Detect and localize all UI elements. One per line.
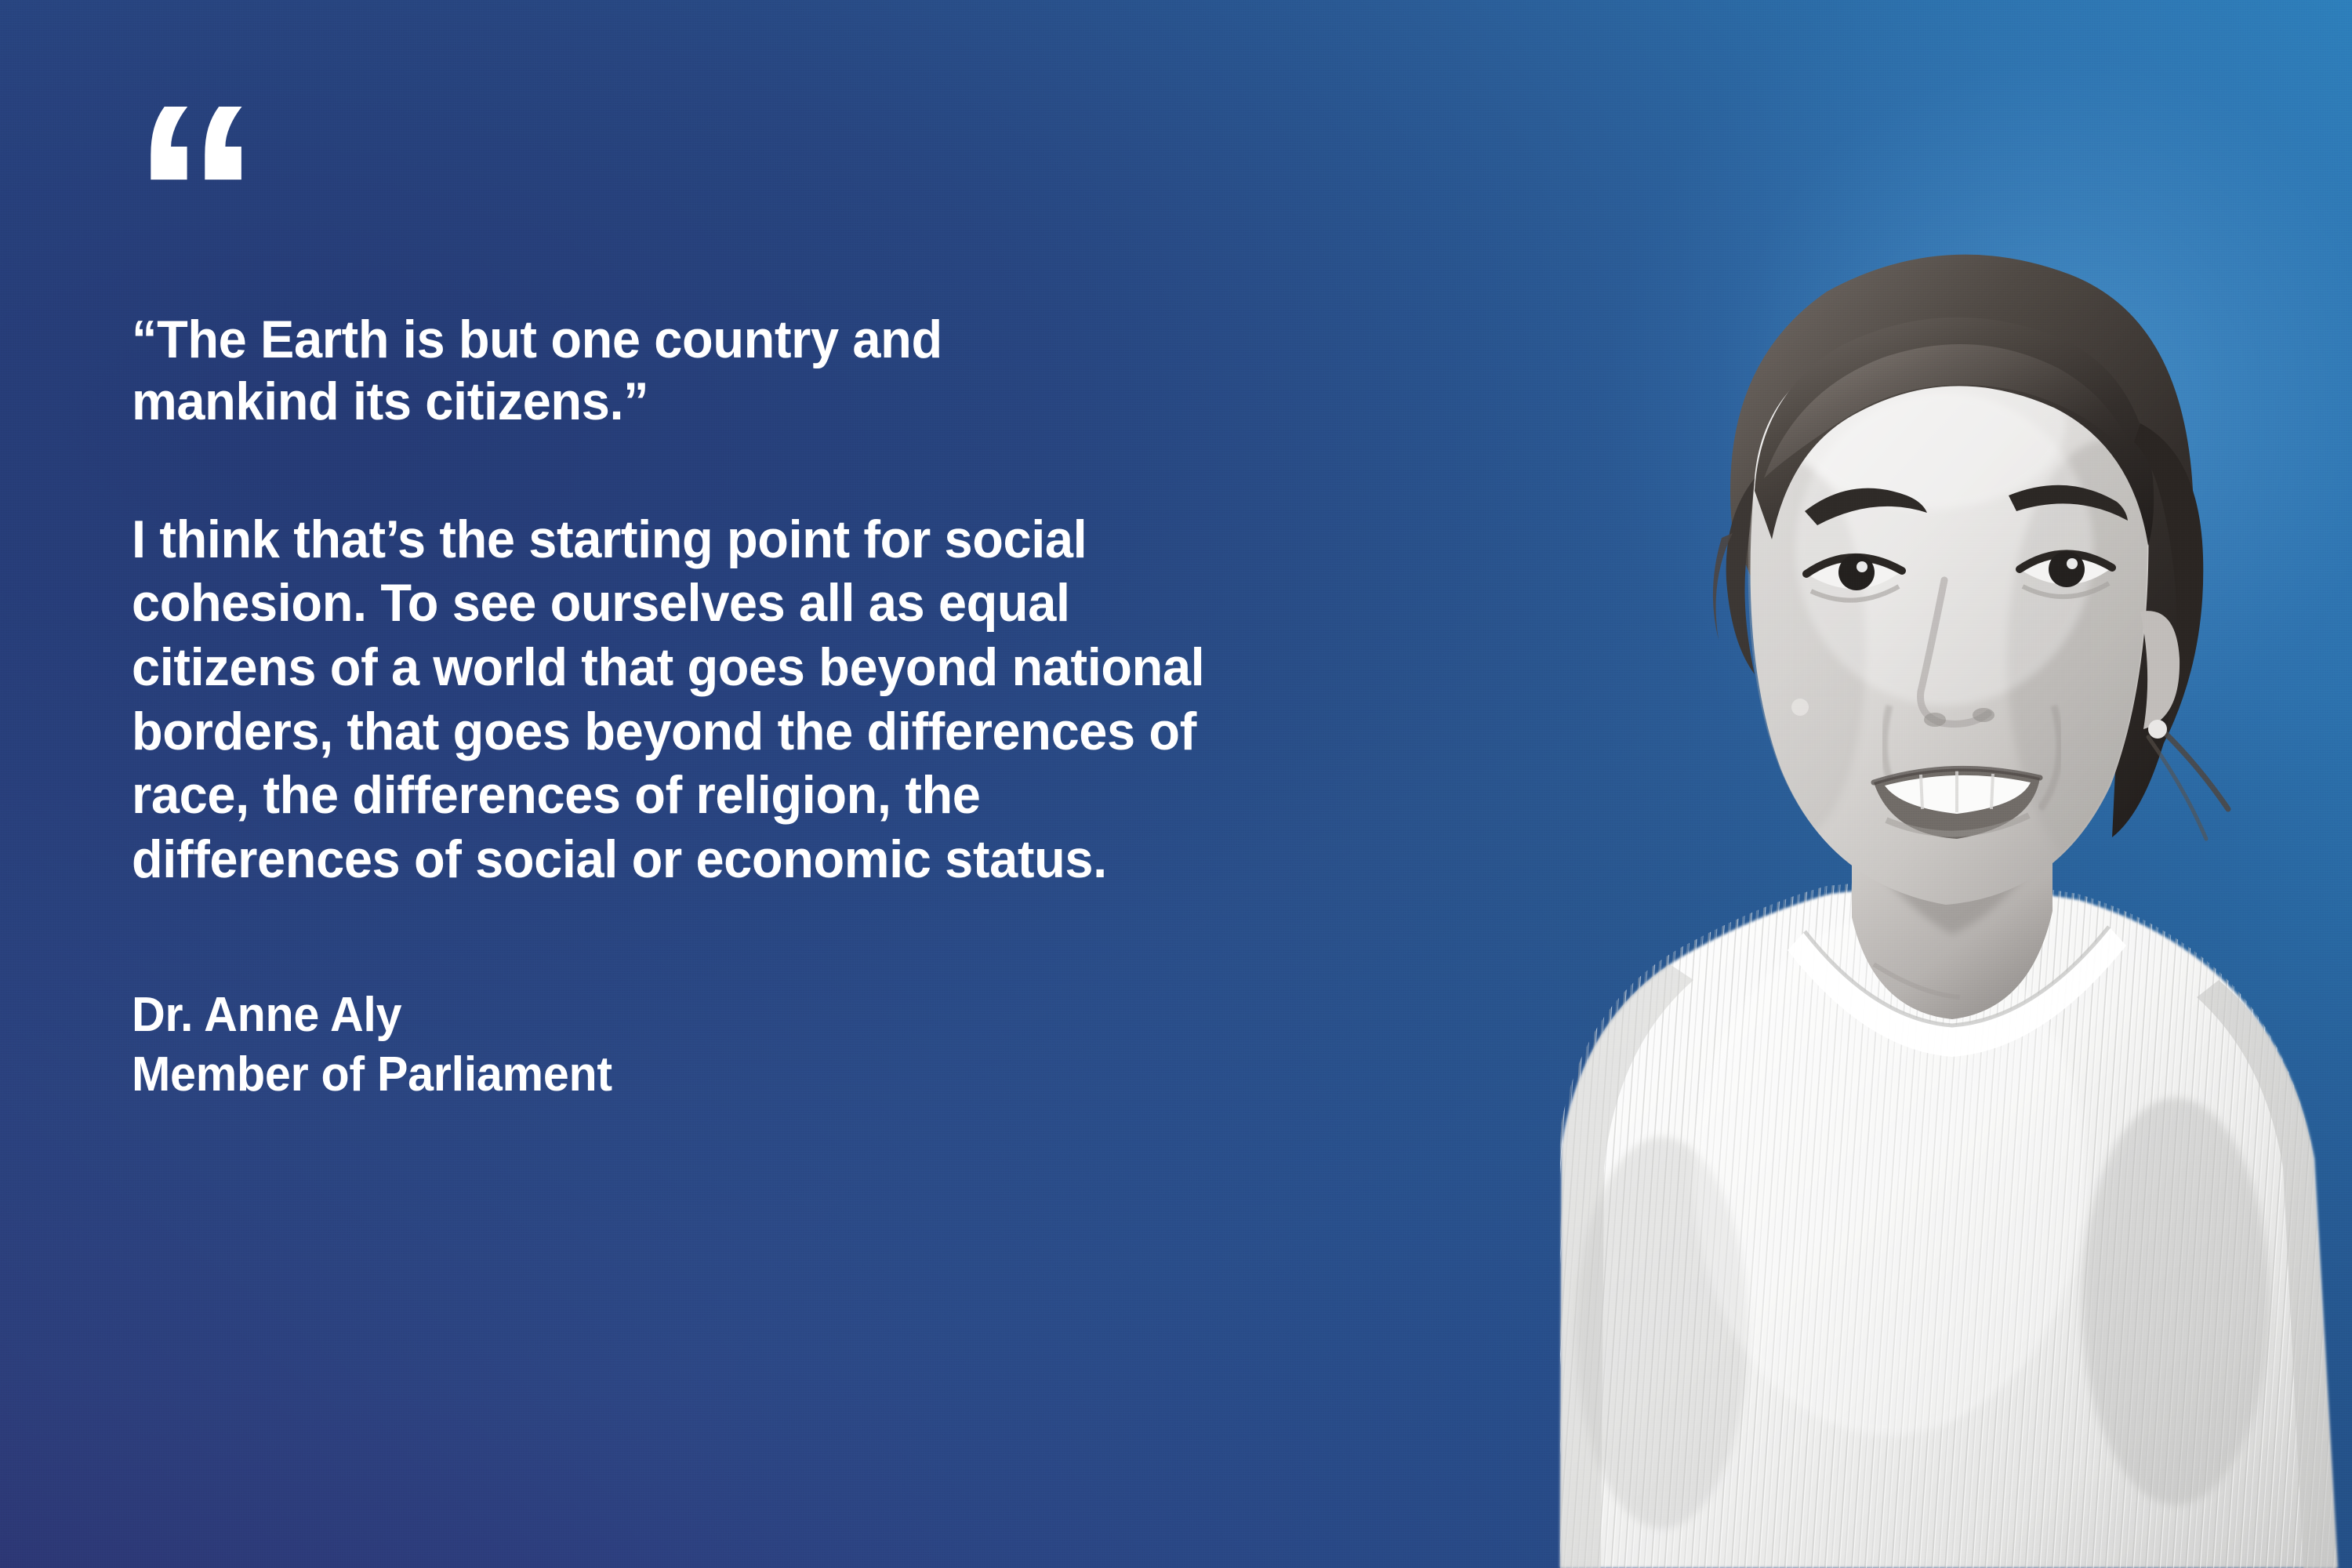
quote-body-line: race, the differences of religion, the bbox=[132, 764, 1450, 828]
quote-body-line: borders, that goes beyond the difference… bbox=[132, 700, 1450, 764]
attribution-title: Member of Parliament bbox=[132, 1045, 1450, 1105]
quote-body-line: cohesion. To see ourselves all as equal bbox=[132, 572, 1450, 636]
quote-text-column: “ “The Earth is but one country and mank… bbox=[132, 94, 1512, 1105]
quote-headline-line: “The Earth is but one country and bbox=[132, 309, 1450, 371]
quote-body-line: I think that’s the starting point for so… bbox=[132, 508, 1450, 572]
background-glow bbox=[1474, 0, 2352, 988]
quote-card: “ “The Earth is but one country and mank… bbox=[0, 0, 2352, 1568]
quote-headline: “The Earth is but one country and mankin… bbox=[132, 309, 1512, 433]
quote-headline-line: mankind its citizens.” bbox=[132, 371, 1450, 433]
quote-body-line: differences of social or economic status… bbox=[132, 828, 1450, 892]
open-quote-icon: “ bbox=[132, 94, 1512, 212]
quote-body-line: citizens of a world that goes beyond nat… bbox=[132, 636, 1450, 700]
quote-body: I think that’s the starting point for so… bbox=[132, 508, 1512, 892]
attribution-name: Dr. Anne Aly bbox=[132, 985, 1450, 1045]
attribution: Dr. Anne Aly Member of Parliament bbox=[132, 985, 1512, 1104]
